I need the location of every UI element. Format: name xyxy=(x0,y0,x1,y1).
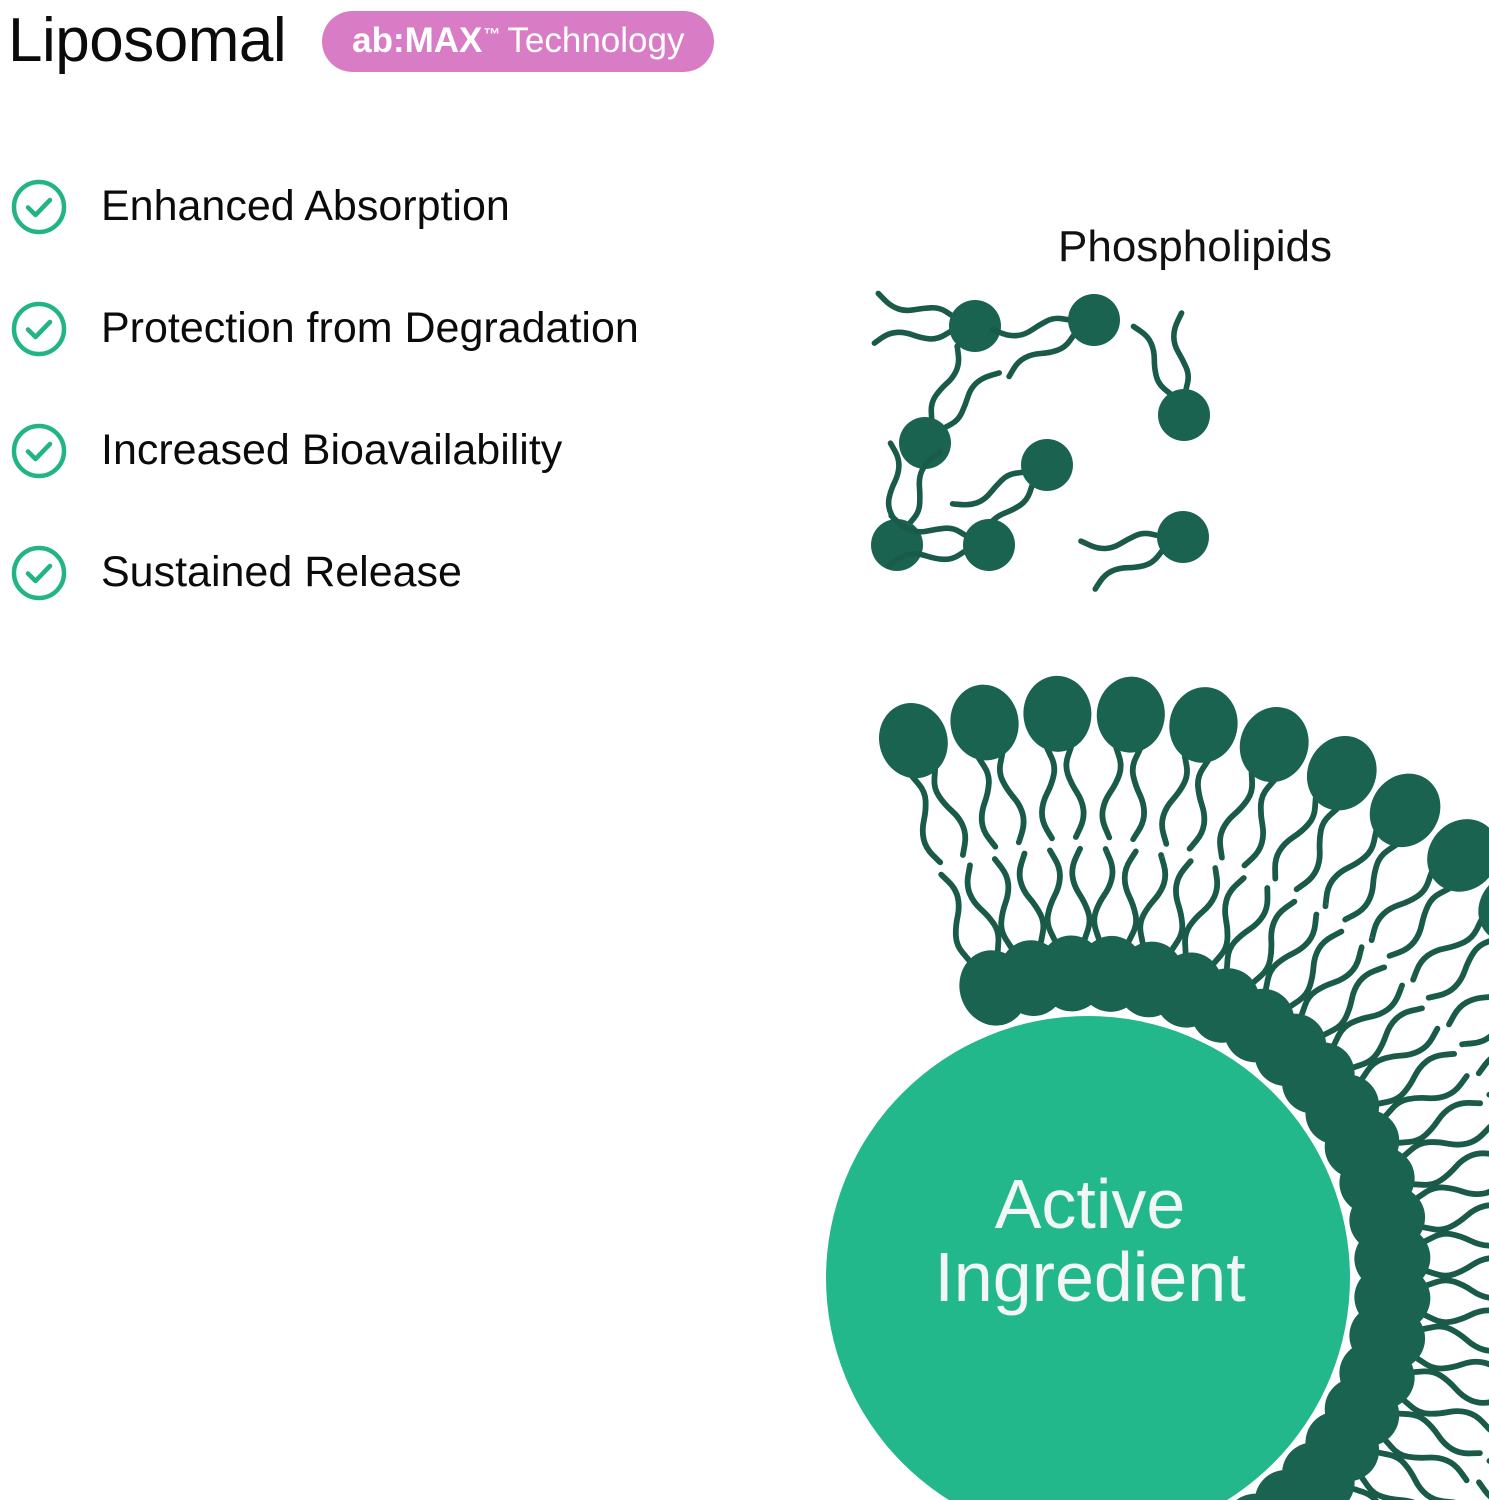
lipid-tail xyxy=(1449,975,1489,1025)
liposome-diagram xyxy=(0,0,1489,1500)
lipid-tail xyxy=(979,758,995,847)
lipid-tail xyxy=(1427,1258,1489,1276)
lipid-tail xyxy=(1072,849,1089,939)
lipid-tail xyxy=(1390,889,1450,956)
liposome-infographic: Liposomal ab:MAX ™ Technology Enhanced A… xyxy=(0,0,1489,1500)
lipid-tail xyxy=(1000,754,1024,843)
lipid-tail xyxy=(1140,855,1165,943)
lipid-tail xyxy=(1048,850,1060,940)
lipid-tail xyxy=(934,769,965,855)
lipid-head xyxy=(1162,681,1244,769)
lipid-tail xyxy=(1133,749,1144,839)
lipid-tail xyxy=(1020,854,1044,942)
lipid-tail xyxy=(1190,761,1208,849)
active-ingredient-core xyxy=(826,1016,1350,1500)
lipid-tail xyxy=(1399,1103,1480,1143)
lipid-tail xyxy=(1425,1310,1489,1322)
lipid-head xyxy=(869,694,957,787)
lipid-head xyxy=(1094,674,1168,755)
lipid-tail xyxy=(1414,1371,1489,1403)
lipid-tail xyxy=(1102,748,1120,838)
lipid-tail xyxy=(1220,773,1252,858)
lipid-tail xyxy=(1414,1153,1489,1185)
lipid-tail xyxy=(1424,1326,1489,1350)
lipid-tail xyxy=(1297,809,1337,890)
lipid-tail xyxy=(1275,798,1316,879)
lipid-head xyxy=(1230,697,1319,791)
lipid-tail xyxy=(968,865,999,951)
lipid-tail xyxy=(1042,748,1054,838)
lipid-tail xyxy=(1291,932,1342,1007)
lipid-tail xyxy=(1162,756,1187,844)
lipid-tail xyxy=(1399,1414,1480,1454)
lipid-tail xyxy=(1125,851,1136,941)
lipid-head xyxy=(944,679,1025,766)
lipid-tail xyxy=(1227,888,1268,968)
lipid-head xyxy=(1021,674,1093,754)
lipid-tail xyxy=(1066,747,1083,837)
lipid-tail xyxy=(1185,868,1217,953)
lipid-tail xyxy=(1427,1280,1489,1298)
lipid-tail xyxy=(1094,849,1112,939)
lipid-tail xyxy=(1425,1234,1489,1246)
lipid-tail xyxy=(1479,1482,1489,1500)
lipid-tail xyxy=(941,875,969,961)
lipid-tail xyxy=(1424,1205,1489,1229)
